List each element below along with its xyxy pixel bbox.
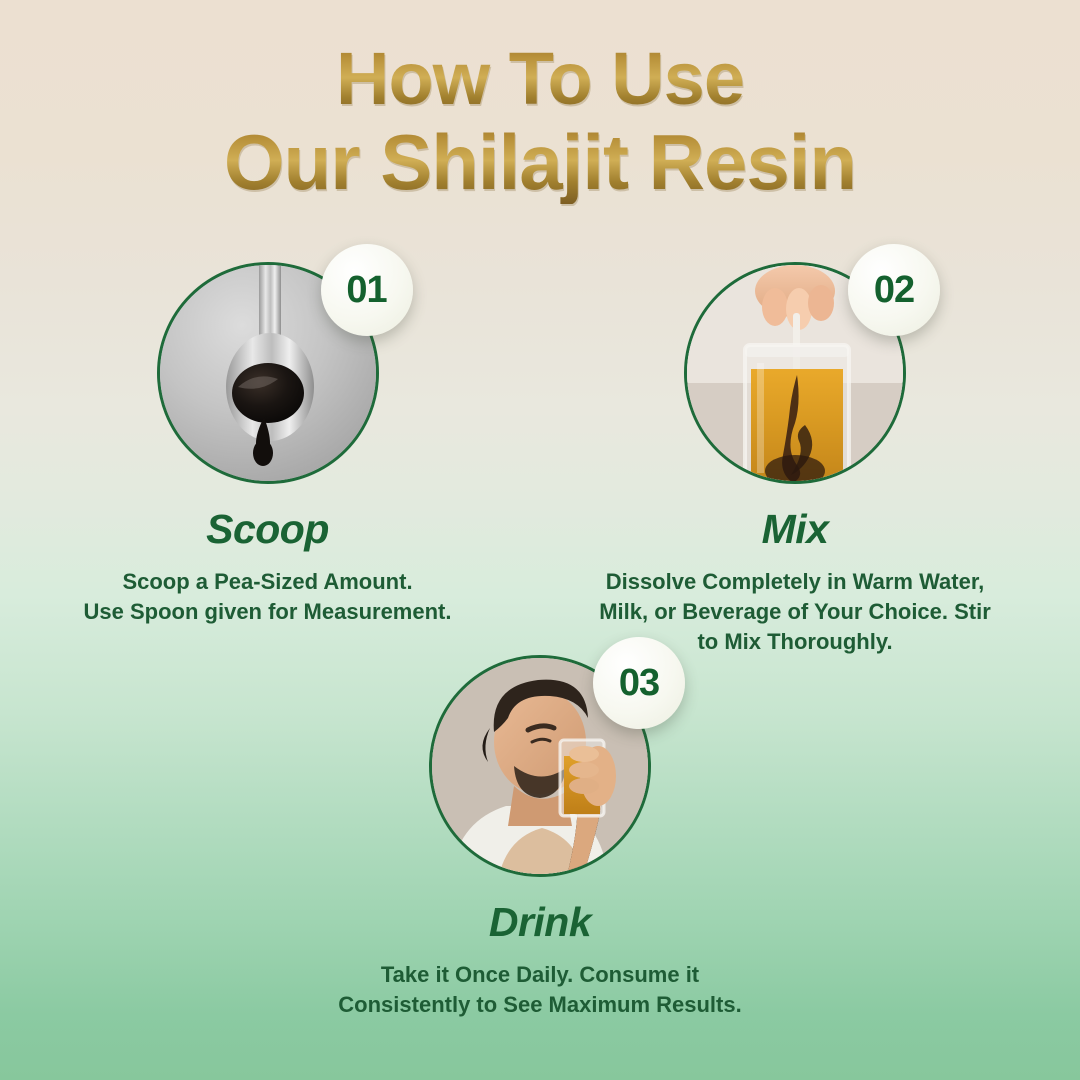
step-2-description-line-2: Milk, or Beverage of Your Choice. Stir xyxy=(545,597,1045,627)
how-to-use-infographic: How To Use Our Shilajit Resin xyxy=(0,0,1080,1080)
step-1-description: Scoop a Pea-Sized Amount. Use Spoon give… xyxy=(20,567,515,627)
step-2-description-line-1: Dissolve Completely in Warm Water, xyxy=(545,567,1045,597)
step-item-drink: 03 Drink Take it Once Daily. Consume it … xyxy=(290,655,790,1020)
step-3-number-badge: 03 xyxy=(593,637,685,729)
step-1-description-line-1: Scoop a Pea-Sized Amount. xyxy=(20,567,515,597)
step-3-description-line-2: Consistently to See Maximum Results. xyxy=(290,990,790,1020)
step-3-description-line-1: Take it Once Daily. Consume it xyxy=(290,960,790,990)
step-2-title: Mix xyxy=(545,506,1045,553)
step-1-media: 01 xyxy=(157,262,379,484)
steps-container: 01 Scoop Scoop a Pea-Sized Amount. Use S… xyxy=(0,0,1080,1080)
step-3-media: 03 xyxy=(429,655,651,877)
step-1-description-line-2: Use Spoon given for Measurement. xyxy=(20,597,515,627)
step-1-title: Scoop xyxy=(20,506,515,553)
step-2-media: 02 xyxy=(684,262,906,484)
step-1-number-badge: 01 xyxy=(321,244,413,336)
step-3-title: Drink xyxy=(290,899,790,946)
step-2-number-badge: 02 xyxy=(848,244,940,336)
step-item-mix: 02 Mix Dissolve Completely in Warm Water… xyxy=(545,262,1045,657)
step-3-description: Take it Once Daily. Consume it Consisten… xyxy=(290,960,790,1020)
step-item-scoop: 01 Scoop Scoop a Pea-Sized Amount. Use S… xyxy=(20,262,515,627)
